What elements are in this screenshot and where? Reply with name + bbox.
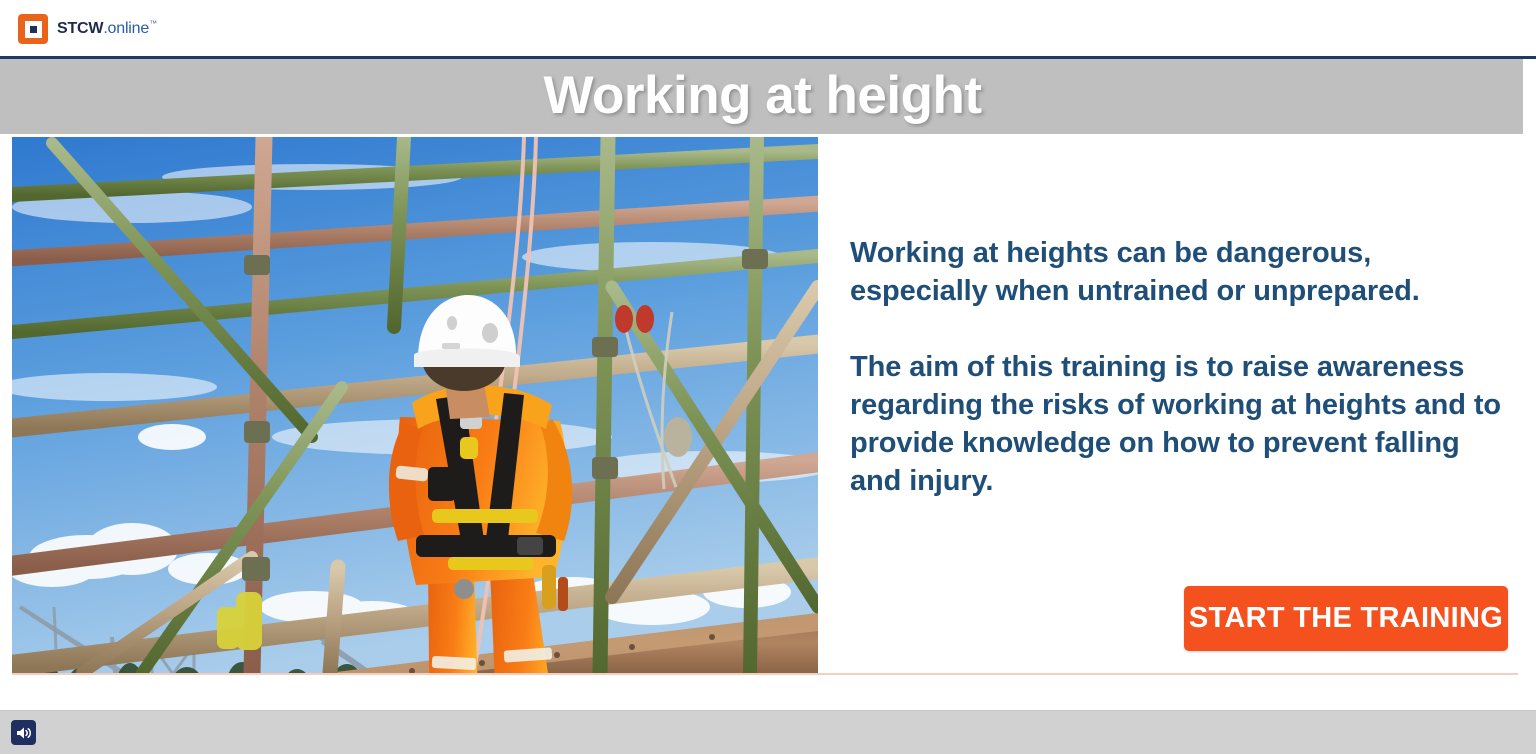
brand-primary-text: STCW [57,21,103,37]
brand-wordmark: STCW.online™ [57,21,157,37]
intro-paragraph-2: The aim of this training is to raise awa… [850,349,1510,501]
logo-center-dot [30,26,37,33]
start-the-training-button[interactable]: START THE TRAINING [1184,586,1508,651]
intro-paragraph-1: Working at heights can be dangerous, esp… [850,235,1510,311]
player-toolbar [0,710,1536,754]
course-slide: STCW.online™ Working at height [0,0,1536,754]
slide-content-card: Working at heights can be dangerous, esp… [12,137,1518,675]
slide-text-panel: Working at heights can be dangerous, esp… [818,137,1518,673]
logo-inner-square [25,21,42,38]
brand-logo[interactable]: STCW.online™ [18,14,157,44]
app-header: STCW.online™ [0,0,1536,58]
stcw-square-logo-icon [18,14,48,44]
speaker-volume-icon[interactable] [11,720,36,745]
worker-on-scaffolding-photo [12,137,818,673]
slide-title-banner: Working at height [0,59,1523,134]
trademark-symbol: ™ [149,20,157,28]
page-title: Working at height [543,69,981,122]
brand-secondary-text: .online [103,21,149,37]
